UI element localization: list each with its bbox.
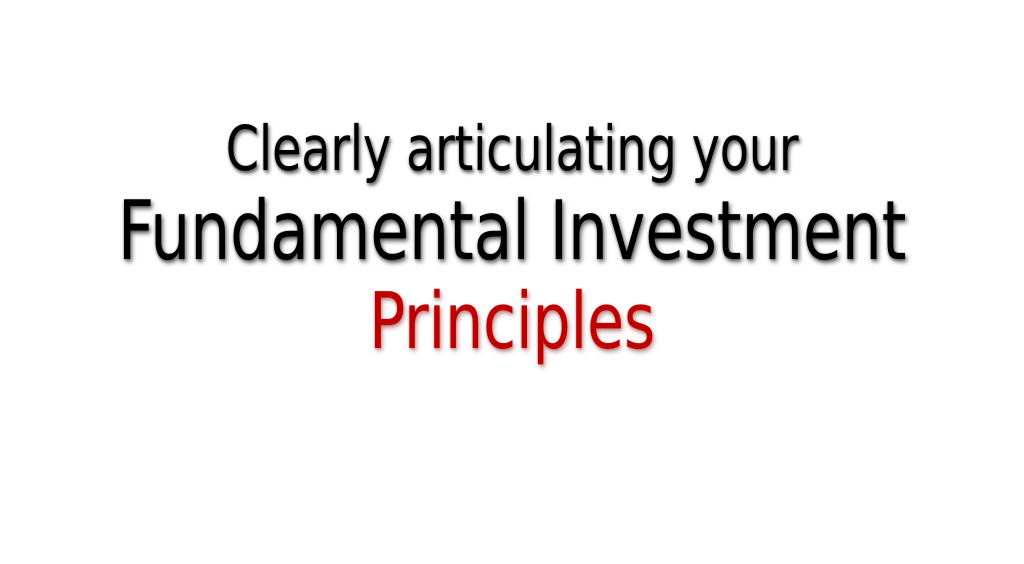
- slide-title-block: Clearly articulating your Fundamental In…: [0, 112, 1024, 366]
- title-line-3-accent: Principles: [92, 278, 931, 366]
- title-line-2: Fundamental Investment: [92, 186, 931, 278]
- slide-canvas: Clearly articulating your Fundamental In…: [0, 0, 1024, 564]
- title-line-1: Clearly articulating your: [92, 112, 931, 186]
